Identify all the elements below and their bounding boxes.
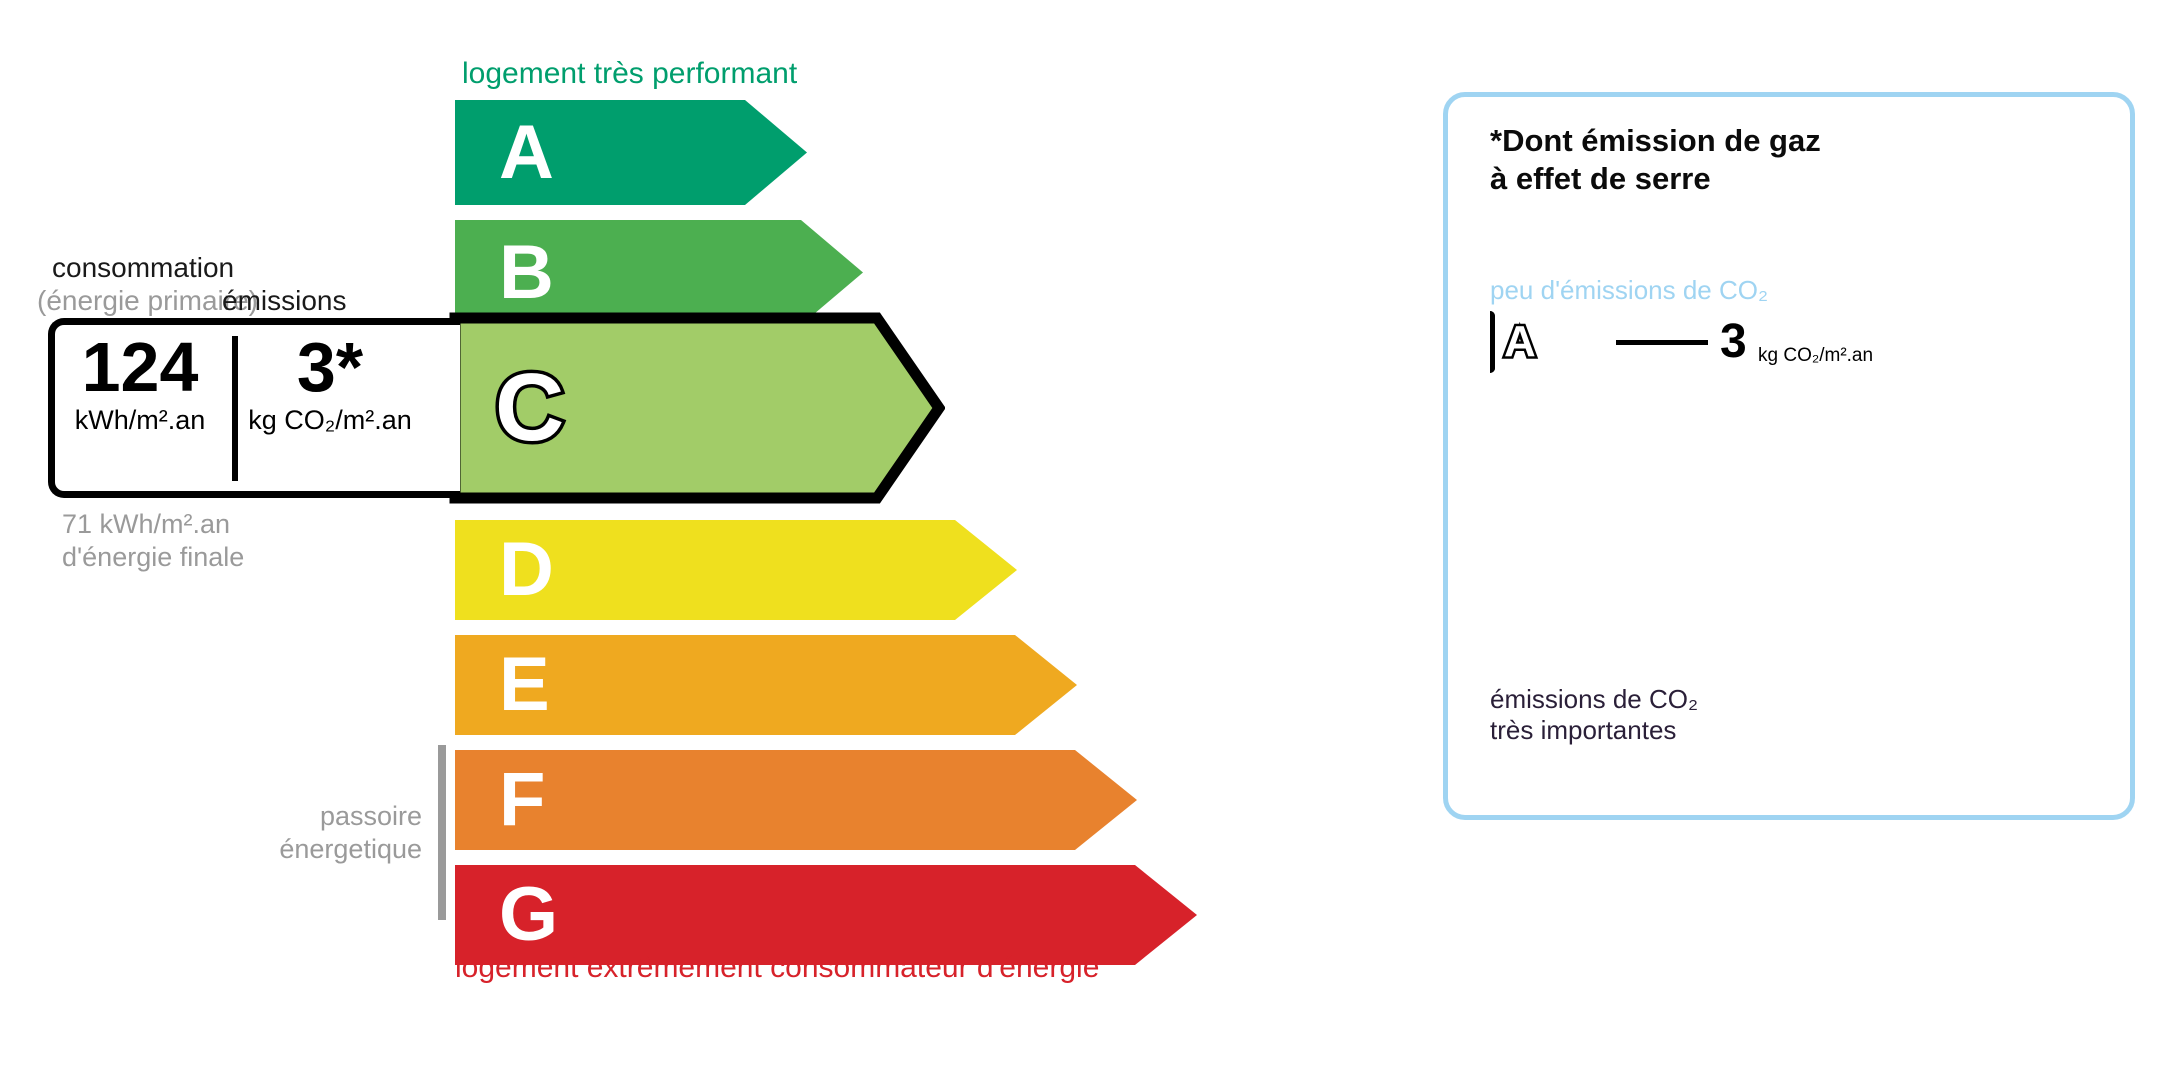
ges-letter-a: A — [1504, 320, 1536, 364]
ges-band-d: D — [1490, 487, 1716, 535]
ges-letter-b: B — [1506, 387, 1529, 419]
ges-value: 3 — [1720, 318, 1747, 366]
ges-letter-c: C — [1506, 441, 1529, 473]
consumption-unit: kWh/m².an — [50, 406, 230, 436]
band-letter-c: C — [495, 360, 564, 456]
energy-performance-panel: logement très performant ABCDEFG consomm… — [0, 0, 1400, 1079]
band-letter-b: B — [499, 235, 554, 311]
band-letter-a: A — [499, 115, 554, 191]
ges-band-e: E — [1490, 541, 1748, 589]
band-letter-e: E — [499, 647, 550, 723]
ges-bottom-caption: émissions de CO₂ très importantes — [1490, 684, 1698, 746]
emissions-value-cell: 3* kg CO₂/m².an — [240, 330, 420, 435]
ges-band-a: A — [1490, 311, 1602, 373]
ges-band-c: C — [1490, 433, 1682, 481]
energy-band-g: G — [455, 865, 1197, 965]
dpe-diagram: logement très performant ABCDEFG consomm… — [0, 0, 2169, 1079]
energy-band-f: F — [455, 750, 1137, 850]
ges-letter-d: D — [1506, 495, 1529, 527]
ges-bar-shape — [1490, 311, 1495, 373]
consumption-value: 124 — [50, 330, 230, 406]
band-letter-d: D — [499, 532, 554, 608]
band-letter-g: G — [499, 877, 558, 953]
greenhouse-gas-card: *Dont émission de gaz à effet de serre p… — [1443, 92, 2135, 820]
value-box-divider — [232, 336, 238, 481]
ges-band-b: B — [1490, 379, 1650, 427]
consumption-value-cell: 124 kWh/m².an — [50, 330, 230, 435]
ges-value-unit: kg CO₂/m².an — [1758, 346, 1873, 365]
ges-letter-e: E — [1506, 549, 1527, 581]
ges-letter-f: F — [1506, 603, 1526, 635]
emissions-unit: kg CO₂/m².an — [240, 406, 420, 436]
band-arrow-shape — [455, 865, 1197, 965]
passoire-bracket — [438, 745, 446, 920]
energy-band-d: D — [455, 520, 1017, 620]
energy-band-c: C — [449, 312, 945, 504]
final-energy-note: 71 kWh/m².an d'énergie finale — [62, 508, 244, 574]
energy-band-b: B — [455, 220, 863, 325]
emissions-value: 3* — [240, 330, 420, 406]
ges-title: *Dont émission de gaz à effet de serre — [1490, 122, 1821, 198]
energy-band-e: E — [455, 635, 1077, 735]
ges-leader-line — [1616, 340, 1708, 345]
ges-top-caption: peu d'émissions de CO₂ — [1490, 275, 1768, 306]
energy-band-a: A — [455, 100, 807, 205]
ges-band-f: F — [1490, 595, 1782, 643]
band-arrow-shape — [455, 750, 1137, 850]
consumption-label: consommation — [52, 252, 234, 284]
passoire-label: passoire énergetique — [250, 800, 422, 866]
band-letter-f: F — [499, 762, 545, 838]
emissions-label: émissions — [222, 285, 346, 317]
dpe-top-caption: logement très performant — [462, 57, 797, 91]
dpe-bottom-caption: logement extrêmement consommateur d'éner… — [455, 951, 1099, 985]
